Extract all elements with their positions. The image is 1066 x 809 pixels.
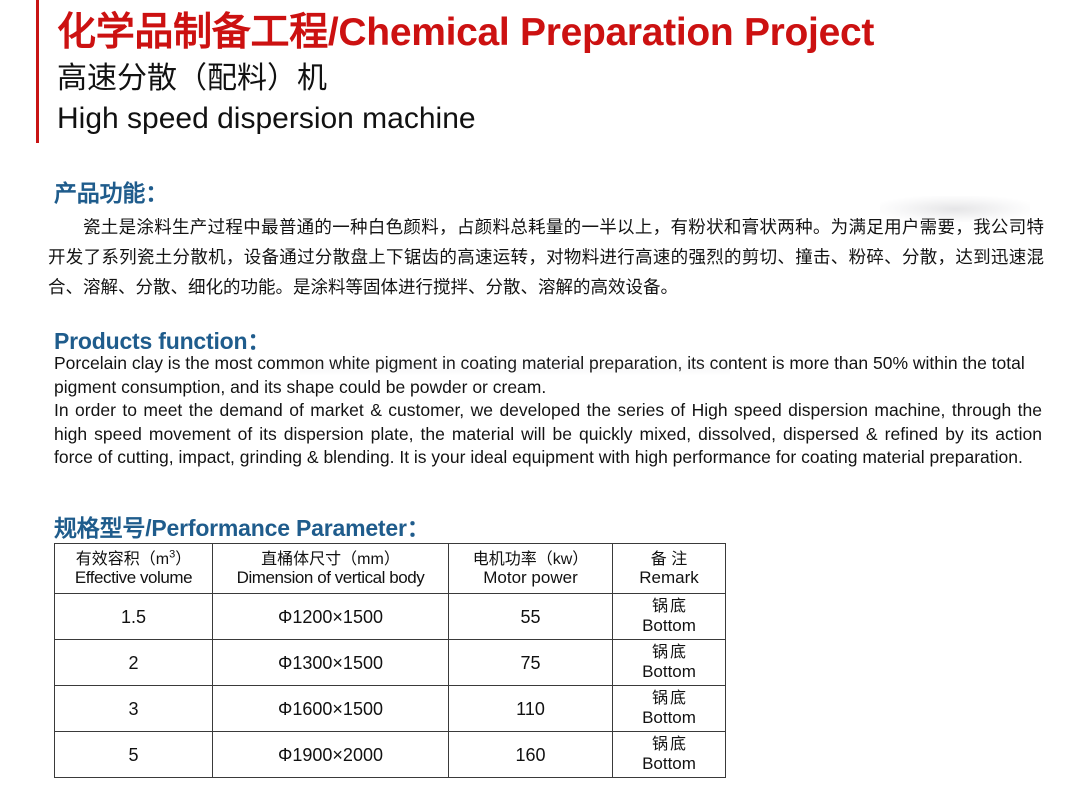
table-header-dimension: 直桶体尺寸（mm） Dimension of vertical body (213, 544, 449, 594)
cell-remark: 锅底 Bottom (613, 594, 726, 640)
subtitle-english: High speed dispersion machine (57, 98, 1046, 144)
cell-motor-power: 55 (449, 594, 613, 640)
cell-dimension: Φ1200×1500 (213, 594, 449, 640)
table-header-motor-power: 电机功率（kw） Motor power (449, 544, 613, 594)
cell-effective-volume: 3 (55, 686, 213, 732)
cell-remark-cn: 锅底 (615, 598, 723, 616)
cell-remark-en: Bottom (615, 662, 723, 681)
cell-effective-volume: 2 (55, 640, 213, 686)
table-header-motor-power-cn: 电机功率（kw） (451, 550, 610, 569)
table-row: 2 Φ1300×1500 75 锅底 Bottom (55, 640, 726, 686)
cell-remark-cn: 锅底 (615, 690, 723, 708)
table-header-remark: 备 注 Remark (613, 544, 726, 594)
table-row: 1.5 Φ1200×1500 55 锅底 Bottom (55, 594, 726, 640)
table-header-effective-volume-cn: 有效容积（m3） (57, 550, 210, 569)
cell-effective-volume: 1.5 (55, 594, 213, 640)
table-header-dimension-cn: 直桶体尺寸（mm） (215, 550, 446, 569)
table-header-remark-en: Remark (615, 568, 723, 587)
table-header-effective-volume: 有效容积（m3） Effective volume (55, 544, 213, 594)
paragraph-group-english: Porcelain clay is the most common white … (54, 352, 1042, 470)
paragraph-english-1: Porcelain clay is the most common white … (54, 352, 1042, 399)
page-title: 化学品制备工程/Chemical Preparation Project (57, 0, 1046, 56)
table-body: 1.5 Φ1200×1500 55 锅底 Bottom 2 Φ1300×1500… (55, 594, 726, 778)
section-heading-performance-parameter: 规格型号/Performance Parameter： (54, 509, 430, 543)
page-root: 化学品制备工程/Chemical Preparation Project 高速分… (0, 0, 1066, 809)
cell-motor-power: 75 (449, 640, 613, 686)
cell-motor-power: 160 (449, 732, 613, 778)
section-heading-products-function-en: Products function： (54, 322, 270, 356)
header-block: 化学品制备工程/Chemical Preparation Project 高速分… (36, 0, 1046, 143)
subtitle-chinese: 高速分散（配料）机 (57, 56, 1046, 98)
cell-dimension: Φ1300×1500 (213, 640, 449, 686)
cell-remark: 锅底 Bottom (613, 732, 726, 778)
cell-dimension: Φ1900×2000 (213, 732, 449, 778)
cell-remark-en: Bottom (615, 754, 723, 773)
section-heading-product-function-cn: 产品功能： (54, 174, 168, 208)
performance-parameter-table: 有效容积（m3） Effective volume 直桶体尺寸（mm） Dime… (54, 543, 726, 778)
table-row: 3 Φ1600×1500 110 锅底 Bottom (55, 686, 726, 732)
paragraph-product-function-cn: 瓷土是涂料生产过程中最普通的一种白色颜料，占颜料总耗量的一半以上，有粉状和膏状两… (48, 212, 1044, 302)
table-header-dimension-en: Dimension of vertical body (215, 568, 446, 587)
table-header-remark-cn: 备 注 (615, 550, 723, 569)
cell-remark-cn: 锅底 (615, 644, 723, 662)
cell-remark: 锅底 Bottom (613, 640, 726, 686)
cell-remark-en: Bottom (615, 708, 723, 727)
cell-remark-cn: 锅底 (615, 736, 723, 754)
table-header-effective-volume-en: Effective volume (57, 568, 210, 587)
cell-effective-volume: 5 (55, 732, 213, 778)
paragraph-english-2: In order to meet the demand of market & … (54, 399, 1042, 470)
table-header-motor-power-en: Motor power (451, 568, 610, 587)
table-row: 5 Φ1900×2000 160 锅底 Bottom (55, 732, 726, 778)
cell-remark: 锅底 Bottom (613, 686, 726, 732)
table-header-row: 有效容积（m3） Effective volume 直桶体尺寸（mm） Dime… (55, 544, 726, 594)
cell-remark-en: Bottom (615, 616, 723, 635)
cell-dimension: Φ1600×1500 (213, 686, 449, 732)
cell-motor-power: 110 (449, 686, 613, 732)
